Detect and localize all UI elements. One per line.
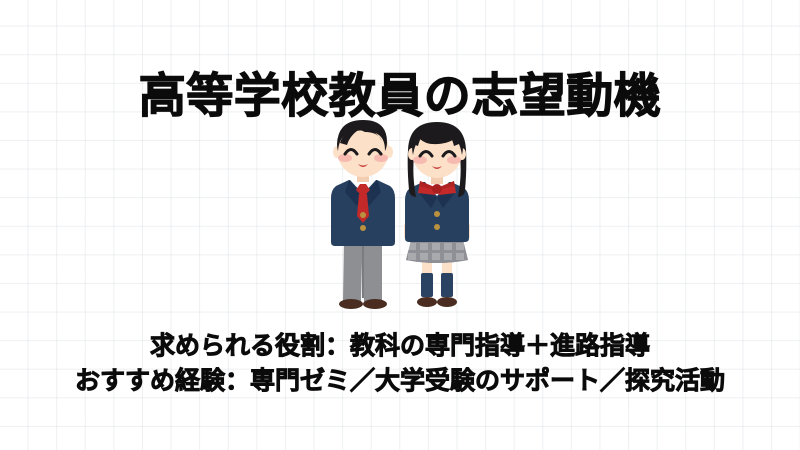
female-sock-left xyxy=(421,273,433,297)
female-blazer-button-lower xyxy=(434,224,440,230)
slide-canvas: 高等学校教員の志望動機 xyxy=(0,0,800,450)
male-shoe-right xyxy=(363,299,387,309)
female-cheek-right xyxy=(447,156,461,164)
caption-block: 求められる役割：教科の専門指導＋進路指導 おすすめ経験：専門ゼミ／大学受験のサポ… xyxy=(0,328,800,398)
female-blazer-button-upper xyxy=(434,211,440,217)
female-sock-right xyxy=(441,273,453,297)
male-student-figure xyxy=(331,120,395,309)
high-school-students-illustration xyxy=(318,114,488,312)
students-svg xyxy=(318,114,488,312)
male-shoe-left xyxy=(339,299,363,309)
female-shoe-left xyxy=(417,297,437,307)
caption-line-experience: おすすめ経験：専門ゼミ／大学受験のサポート／探究活動 xyxy=(0,363,800,398)
caption-line-role: 求められる役割：教科の専門指導＋進路指導 xyxy=(0,328,800,363)
female-student-figure xyxy=(402,122,472,307)
male-blazer-button-lower xyxy=(360,225,366,231)
male-trouser-crease xyxy=(362,238,364,298)
female-shoe-right xyxy=(437,297,457,307)
male-blazer-button-upper xyxy=(360,212,366,218)
